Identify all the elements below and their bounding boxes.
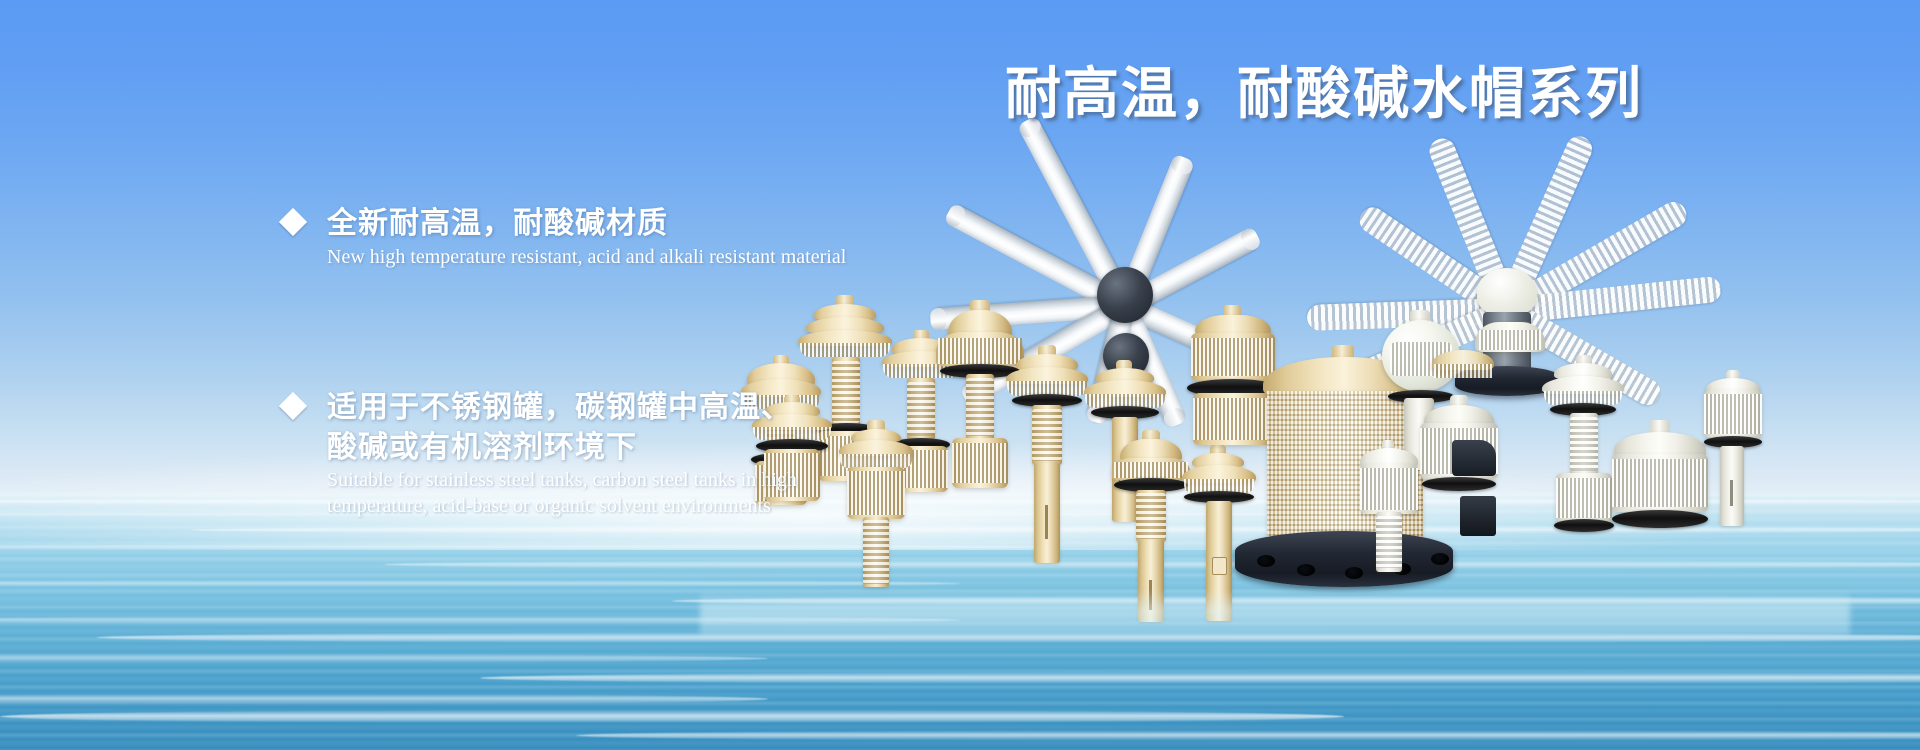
cap-filter-ridges	[1191, 338, 1275, 376]
feature-1-desc-en-line-1: New high temperature resistant, acid and…	[327, 245, 846, 269]
cap-threads	[1136, 493, 1166, 539]
cap-oring	[1612, 510, 1708, 528]
feature-bullet-2: 适用于不锈钢罐，碳钢罐中高温、 酸碱或有机溶剂环境下 Suitable for …	[283, 388, 797, 518]
cap-filter-ridges	[1612, 459, 1708, 507]
cap-cone-ridges	[938, 338, 1022, 364]
cap-cone-ridges	[1114, 462, 1188, 478]
cap-ridges	[840, 454, 912, 468]
cap-threads	[1376, 516, 1402, 568]
flange-bolt-hole	[1257, 555, 1275, 567]
cap-filter-ridges	[1704, 394, 1762, 434]
cap-oring	[1422, 477, 1496, 491]
flange-bolt-hole	[1345, 567, 1363, 579]
cap-threads	[863, 520, 889, 584]
feature-1-title-cn: 全新耐高温，耐酸碱材质	[327, 204, 846, 244]
cap-slot	[1730, 480, 1733, 506]
product-banner: 耐高温，耐酸碱水帽系列 全新耐高温，耐酸碱材质 New high tempera…	[0, 0, 1920, 750]
cap-filter-ridges	[1360, 468, 1418, 510]
feature-2-title-cn-line-1: 适用于不锈钢罐，碳钢罐中高温、	[327, 388, 797, 428]
cap-filter-ridges	[847, 471, 905, 515]
flange-bolt-hole	[1297, 564, 1315, 576]
cap-ridges	[800, 343, 890, 357]
cap-filter-ridges-lower	[1193, 398, 1273, 440]
flange-bolt-hole	[1431, 553, 1449, 565]
product-waterline-blend	[700, 590, 1850, 636]
diamond-marker-icon	[279, 392, 307, 420]
cap-threads	[966, 378, 994, 436]
feature-2-desc-en-line-1: Suitable for stainless steel tanks, carb…	[327, 468, 797, 492]
cap-oring	[1554, 519, 1614, 532]
cap-filter-body	[1195, 315, 1271, 335]
tube-hub	[1097, 267, 1153, 323]
cap-filter-ridges	[952, 443, 1008, 483]
feature-2-title-cn-line-2: 酸碱或有机溶剂环境下	[327, 428, 797, 468]
cap-slot-rect	[1212, 557, 1227, 575]
cap-filter-ridges	[1556, 478, 1612, 518]
cap-threads	[907, 382, 935, 436]
cap-cone-ridges	[1479, 330, 1541, 350]
cap-threads	[832, 361, 860, 423]
bracket-body	[1452, 440, 1496, 476]
page-title: 耐高温，耐酸碱水帽系列	[1005, 62, 1643, 126]
diamond-marker-icon	[279, 208, 307, 236]
cap-ridges	[1434, 364, 1492, 378]
cap-threads	[1032, 409, 1062, 461]
cap-slot	[1045, 505, 1048, 539]
cap-threads	[1570, 417, 1598, 471]
feature-bullet-1: 全新耐高温，耐酸碱材质 New high temperature resista…	[283, 204, 846, 269]
feature-2-desc-en-line-2: temperature, acid-base or organic solven…	[327, 494, 797, 518]
bracket-body	[1460, 496, 1496, 536]
tube-hub-light	[1477, 268, 1537, 316]
